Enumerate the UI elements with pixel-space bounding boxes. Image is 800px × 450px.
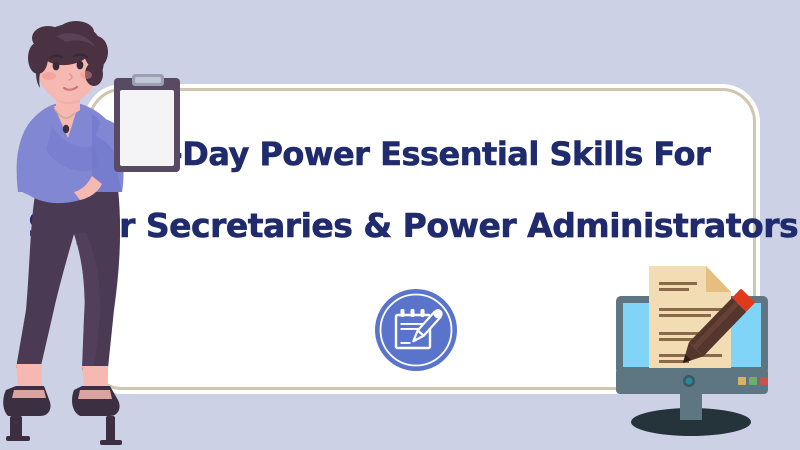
indicator-dot-red <box>760 377 768 385</box>
businesswoman-holding-clipboard-illustration <box>0 18 206 450</box>
indicator-dot-yellow <box>738 377 746 385</box>
power-indicator-dot <box>686 378 693 385</box>
desktop-monitor-document-pencil-illustration <box>596 252 800 448</box>
notepad-pen-badge-icon <box>374 288 458 372</box>
clipboard-illustration <box>114 74 180 172</box>
poster-canvas: 1-Day Power Essential Skills For Super S… <box>0 0 800 450</box>
indicator-dot-green <box>749 377 757 385</box>
